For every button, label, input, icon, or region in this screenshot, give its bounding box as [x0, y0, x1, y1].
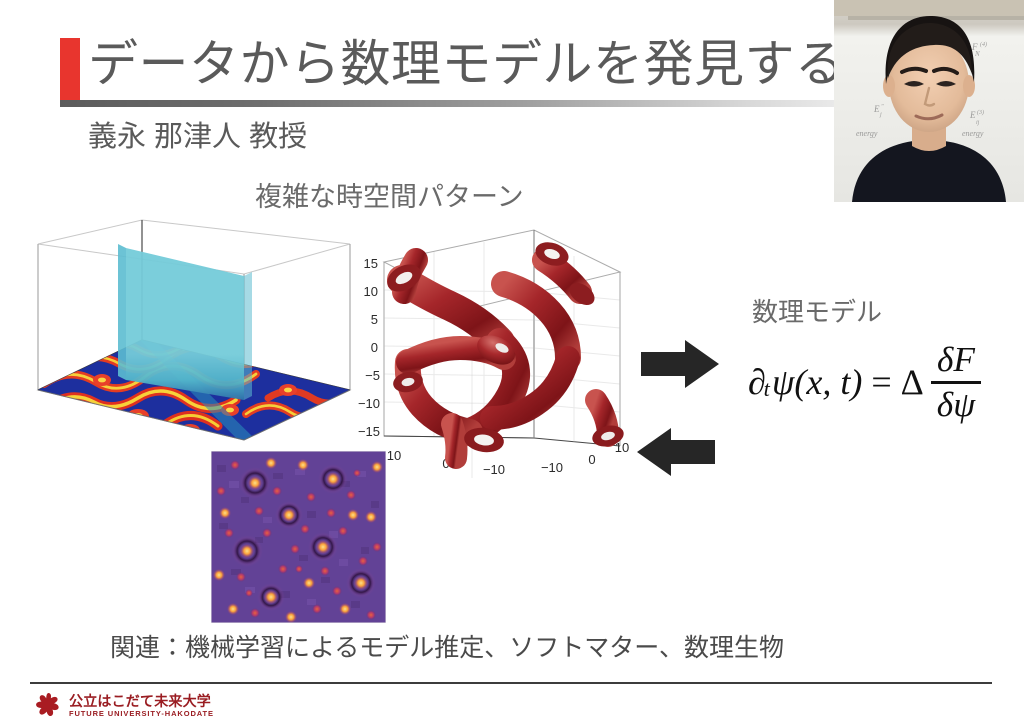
svg-text:ij: ij	[976, 120, 980, 126]
fraction-denominator: δψ	[931, 384, 981, 425]
svg-text:0: 0	[588, 452, 595, 467]
z-axis-ticks: 15 10 5 0 −5 −10 −15	[358, 256, 380, 439]
svg-text:energy: energy	[856, 129, 878, 138]
footer-divider	[30, 682, 992, 684]
svg-text:energy: energy	[962, 129, 984, 138]
svg-text:15: 15	[364, 256, 378, 271]
equation-subscript: t	[764, 376, 770, 402]
svg-text:(3): (3)	[977, 109, 984, 116]
svg-text:10: 10	[387, 448, 401, 463]
fraction-numerator: δF	[931, 340, 981, 381]
gyroid-plot: 15 10 5 0 −5 −10 −15 10 0 −10 −10 0 10	[356, 224, 652, 478]
equation-field: ψ	[772, 361, 794, 403]
svg-text:−15: −15	[358, 424, 380, 439]
portrait-photo: F (4) N E " j E (3) ij energy energy	[834, 0, 1024, 202]
svg-text:5: 5	[371, 312, 378, 327]
equation-equals: =	[862, 361, 900, 403]
quasicrystal-image	[211, 451, 386, 623]
title-accent-bar	[60, 38, 80, 100]
model-caption: 数理モデル	[752, 292, 882, 329]
svg-text:−5: −5	[365, 368, 380, 383]
starfish-logo-icon	[34, 692, 64, 720]
svg-text:E: E	[873, 104, 880, 114]
equation-fraction: δF δψ	[931, 340, 981, 425]
equation-arguments: (x, t)	[794, 361, 862, 403]
svg-text:N: N	[974, 50, 980, 58]
svg-text:j: j	[879, 112, 882, 118]
page-subtitle: 義永 那津人 教授	[88, 116, 307, 158]
svg-text:E: E	[969, 110, 976, 120]
logo-text: 公立はこだて未来大学 FUTURE UNIVERSITY-HAKODATE	[69, 694, 214, 718]
section-caption: 複雑な時空間パターン	[255, 175, 524, 214]
logo-name-jp: 公立はこだて未来大学	[69, 694, 214, 708]
svg-text:−10: −10	[358, 396, 380, 411]
svg-text:(4): (4)	[980, 41, 987, 48]
arrow-right-icon	[641, 340, 719, 388]
slide-canvas: データから数理モデルを発見する 義永 那津人 教授	[0, 0, 1024, 724]
university-logo: 公立はこだて未来大学 FUTURE UNIVERSITY-HAKODATE	[34, 692, 214, 720]
title-divider	[60, 100, 965, 107]
model-equation: ∂tψ(x, t) = Δ δF δψ	[748, 340, 981, 425]
arrow-left-icon	[637, 428, 715, 476]
equation-laplacian: Δ	[901, 361, 924, 403]
page-title: データから数理モデルを発見する	[88, 28, 846, 100]
logo-name-en: FUTURE UNIVERSITY-HAKODATE	[69, 710, 214, 718]
svg-text:0: 0	[371, 340, 378, 355]
slice-plot	[30, 214, 356, 446]
bottom-caption: 関連：機械学習によるモデル推定、ソフトマター、数理生物	[110, 628, 784, 664]
svg-text:10: 10	[364, 284, 378, 299]
